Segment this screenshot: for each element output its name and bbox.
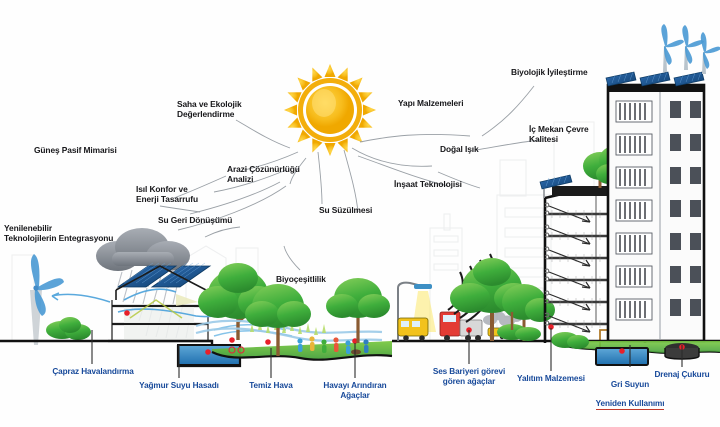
wind-turbine-icon xyxy=(30,254,91,345)
marker-dot xyxy=(265,339,271,345)
infographic-canvas: Güneş Pasif Mimarisi Yenilenebilir Tekno… xyxy=(0,0,720,427)
label-insaat-teknolojisi: İnşaat Teknolojisi xyxy=(394,180,462,190)
label-su-geri-donusumu: Su Geri Dönüşümü xyxy=(158,216,232,226)
label-su-suzulmesi: Su Süzülmesi xyxy=(319,206,372,216)
label-biyocesitlilik: Biyoçeşitlilik xyxy=(276,275,326,285)
insulation-arrows xyxy=(549,206,590,332)
label-havayi-arindiran-agaclar: Havayı Arındıran Ağaçlar xyxy=(312,381,398,400)
shrub xyxy=(46,317,91,340)
marker-dot xyxy=(124,310,130,316)
right-shrubs xyxy=(551,332,589,349)
label-biyolojik-iyilestirme: Biyolojik İyileştirme xyxy=(511,68,588,78)
label-isil-konfor-ve-enerji-tasarrufu: Isıl Konfor ve Enerji Tasarrufu xyxy=(136,185,198,205)
marker-dot xyxy=(205,349,211,355)
label-saha-ve-ekolojik-degerlendirme: Saha ve Ekolojik Değerlendirme xyxy=(177,100,242,120)
label-ses-bariyeri-goren-agaclar: Ses Bariyeri görevi gören ağaçlar xyxy=(421,367,517,386)
bus-icon xyxy=(398,318,428,341)
marker-dot xyxy=(619,348,625,354)
label-gunes-pasif-mimarisi: Güneş Pasif Mimarisi xyxy=(34,146,117,156)
label-arazi-cozunurlugu-analizi: Arazi Çözünürlüğü Analizi xyxy=(227,165,300,185)
label-drenaj-cukuru: Drenaj Çukuru xyxy=(645,370,719,380)
greywater-label-line2: Yeniden Kullanımı xyxy=(596,399,665,410)
marker-dot xyxy=(229,337,235,343)
label-temiz-hava: Temiz Hava xyxy=(237,381,305,391)
label-ic-mekan-cevre-kalitesi: İç Mekan Çevre Kalitesi xyxy=(529,125,589,145)
greywater-label-line1: Gri Suyun xyxy=(611,380,649,389)
label-yenilenebilir-teknolojilerin-entegrasyonu: Yenilenebilir Teknolojilerin Entegrasyon… xyxy=(4,224,113,244)
sun-icon xyxy=(284,64,376,156)
label-dogal-isik: Doğal Işık xyxy=(440,145,479,155)
label-yapi-malzemeleri: Yapı Malzemeleri xyxy=(398,99,463,109)
label-yagmur-suyu-hasadi: Yağmur Suyu Hasadı xyxy=(127,381,231,391)
label-yalitim-malzemesi: Yalıtım Malzemesi xyxy=(505,374,597,384)
label-capraz-havalandirma: Çapraz Havalandırma xyxy=(37,367,149,377)
tall-residential-building xyxy=(606,24,720,341)
roof-wind-turbines xyxy=(661,24,720,74)
